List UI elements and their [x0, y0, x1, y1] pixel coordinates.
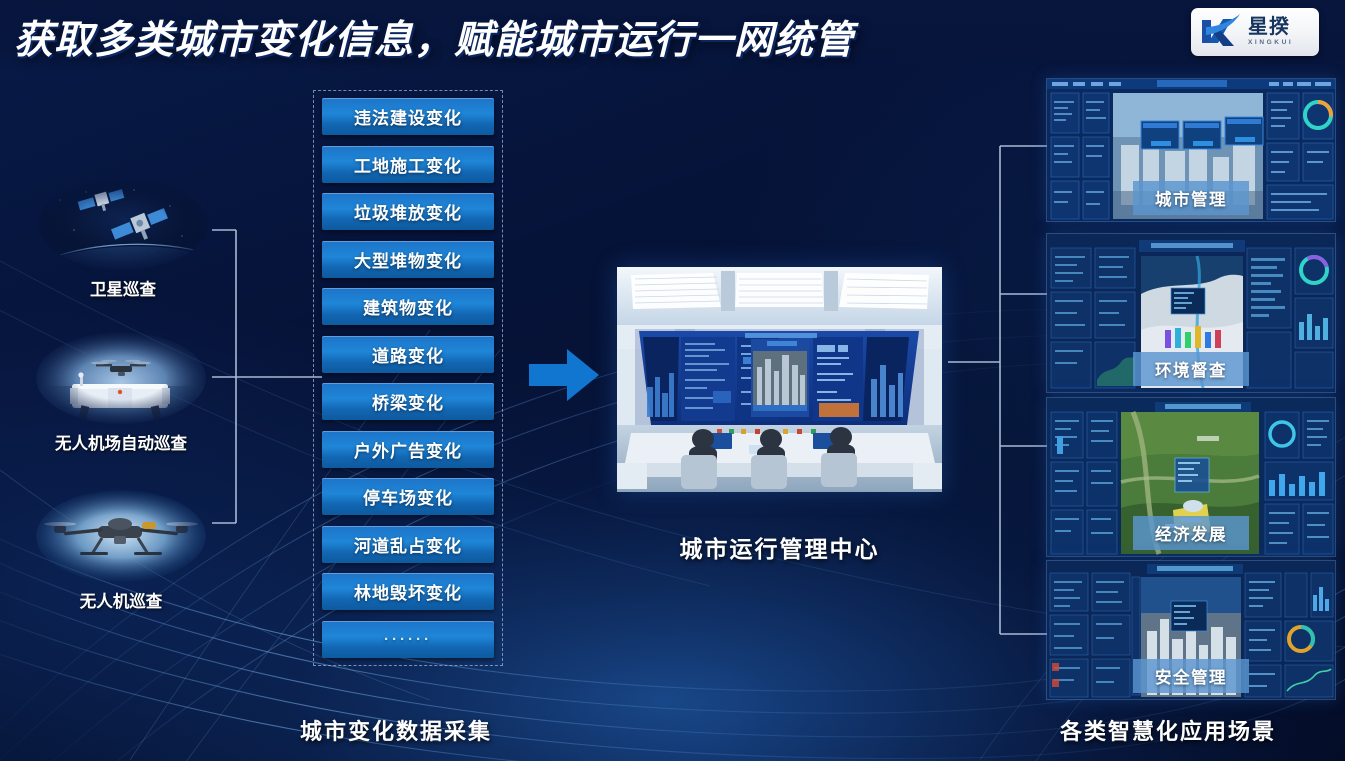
scenario-thumbnail: 城市管理	[1046, 78, 1336, 222]
brand-logo: 星揆 XINGKUI	[1191, 8, 1319, 56]
change-chip[interactable]: 建筑物变化	[322, 288, 494, 325]
scenario-city-management[interactable]: 城市管理	[1046, 78, 1336, 222]
source-drone[interactable]: 无人机巡查	[36, 490, 206, 612]
change-chip[interactable]: 河道乱占变化	[322, 526, 494, 563]
satellite-photo	[38, 178, 208, 270]
slide-root: 获取多类城市变化信息，赋能城市运行一网统管 星揆 XINGKUI	[0, 0, 1345, 761]
drone-photo	[36, 490, 206, 582]
change-chip[interactable]: 大型堆物变化	[322, 241, 494, 278]
change-chip[interactable]: 停车场变化	[322, 478, 494, 515]
scenario-tag: 安全管理	[1133, 659, 1249, 693]
center-caption: 城市运行管理中心	[617, 530, 942, 564]
scenario-thumbnail: 经济发展	[1046, 397, 1336, 557]
source-caption: 无人机巡查	[36, 588, 206, 612]
change-chip[interactable]: 桥梁变化	[322, 383, 494, 420]
change-chip-more[interactable]: ······	[322, 621, 494, 658]
logo-name-en: XINGKUI	[1248, 40, 1293, 47]
change-chip[interactable]: 户外广告变化	[322, 431, 494, 468]
operations-center-block: 城市运行管理中心	[617, 267, 942, 564]
change-chip[interactable]: 林地毁坏变化	[322, 573, 494, 610]
drone-dock-photo	[36, 332, 206, 424]
command-center-photo	[617, 267, 942, 492]
right-section-label: 各类智慧化应用场景	[1060, 714, 1276, 746]
scenario-thumbnail: 安全管理	[1046, 560, 1336, 700]
logo-name-cn: 星揆	[1248, 17, 1293, 37]
change-type-list: 违法建设变化 工地施工变化 垃圾堆放变化 大型堆物变化 建筑物变化 道路变化 桥…	[313, 90, 503, 666]
change-chip[interactable]: 工地施工变化	[322, 146, 494, 183]
source-caption: 卫星巡查	[38, 276, 208, 300]
change-chip[interactable]: 道路变化	[322, 336, 494, 373]
logo-text: 星揆 XINGKUI	[1248, 17, 1293, 47]
right-bracket-connector	[948, 130, 1058, 650]
scenario-thumbnail: 环境督查	[1046, 233, 1336, 393]
change-chip[interactable]: 违法建设变化	[322, 98, 494, 135]
change-chip[interactable]: 垃圾堆放变化	[322, 193, 494, 230]
scenario-tag: 城市管理	[1133, 181, 1249, 215]
scenario-environment[interactable]: 环境督查	[1046, 233, 1336, 393]
scenario-economy[interactable]: 经济发展	[1046, 397, 1336, 557]
scenario-tag: 经济发展	[1133, 516, 1249, 550]
source-caption: 无人机场自动巡查	[36, 430, 206, 454]
source-satellite[interactable]: 卫星巡查	[38, 178, 208, 300]
scenario-tag: 环境督查	[1133, 352, 1249, 386]
left-section-label: 城市变化数据采集	[300, 714, 492, 746]
scenario-safety[interactable]: 安全管理	[1046, 560, 1336, 700]
source-drone-dock[interactable]: 无人机场自动巡查	[36, 332, 206, 454]
k-swoosh-logo-icon	[1198, 13, 1244, 51]
arrow-right-icon	[527, 344, 601, 406]
left-bracket-connector	[196, 215, 326, 545]
header-bar: 获取多类城市变化信息，赋能城市运行一网统管 星揆 XINGKUI	[0, 0, 1345, 72]
page-title: 获取多类城市变化信息，赋能城市运行一网统管	[14, 9, 854, 65]
